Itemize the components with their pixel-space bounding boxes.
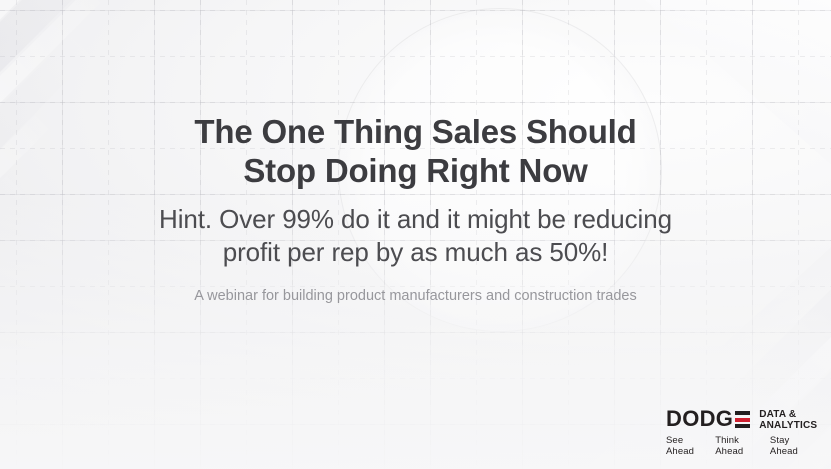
slide-content: The One Thing Sales Should Stop Doing Ri… xyxy=(0,0,831,469)
subtitle-line-2: profit per rep by as much as 50%! xyxy=(223,237,608,267)
logo-descriptor: DATA &ANALYTICS xyxy=(759,408,817,431)
logo-tagline-item-1: Think Ahead xyxy=(715,435,760,457)
logo-descriptor-line-2: ANALYTICS xyxy=(759,420,817,431)
title-line-1: The One Thing Sales Should xyxy=(194,113,636,150)
logo-wordmark: DODG xyxy=(666,408,733,430)
slide-subtitle: Hint. Over 99% do it and it might be red… xyxy=(0,203,831,269)
dodge-logo: DODG DATA &ANALYTICS See Ahead Think Ahe… xyxy=(666,408,811,452)
logo-e-bar-top xyxy=(735,411,750,415)
logo-tagline-item-2: Stay Ahead xyxy=(770,435,811,457)
webinar-title-slide: The One Thing Sales Should Stop Doing Ri… xyxy=(0,0,831,469)
logo-descriptor-line-1: DATA & xyxy=(759,409,796,420)
logo-e-bar-bottom xyxy=(735,424,750,428)
logo-e-bar-middle-red xyxy=(735,418,750,422)
logo-primary-row: DODG DATA &ANALYTICS xyxy=(666,408,817,430)
logo-tagline-item-0: See Ahead xyxy=(666,435,705,457)
page-title: The One Thing Sales Should Stop Doing Ri… xyxy=(0,112,831,190)
title-line-2: Stop Doing Right Now xyxy=(243,152,587,189)
slide-tagline: A webinar for building product manufactu… xyxy=(0,286,831,306)
logo-e-bars-icon xyxy=(735,411,750,428)
subtitle-line-1: Hint. Over 99% do it and it might be red… xyxy=(159,204,672,234)
logo-tagline: See Ahead Think Ahead Stay Ahead xyxy=(666,435,811,457)
